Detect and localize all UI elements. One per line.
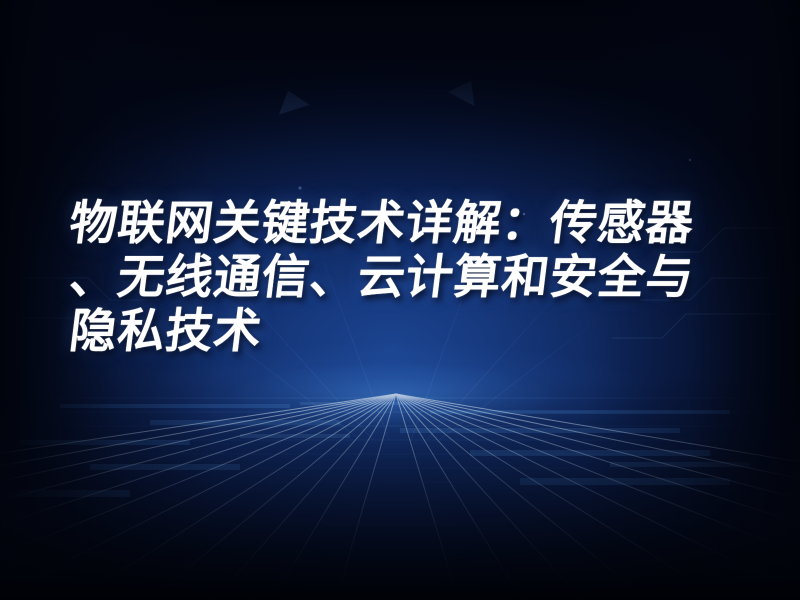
horizon-streaks <box>0 398 800 508</box>
title-line-1: 物联网关键技术详解：传感器 <box>67 196 754 250</box>
title-line-3: 隐私技术 <box>67 304 754 358</box>
banner-canvas: 物联网关键技术详解：传感器 、无线通信、云计算和安全与 隐私技术 <box>0 0 800 600</box>
title-line-2: 、无线通信、云计算和安全与 <box>67 250 754 304</box>
banner-title: 物联网关键技术详解：传感器 、无线通信、云计算和安全与 隐私技术 <box>70 196 750 358</box>
